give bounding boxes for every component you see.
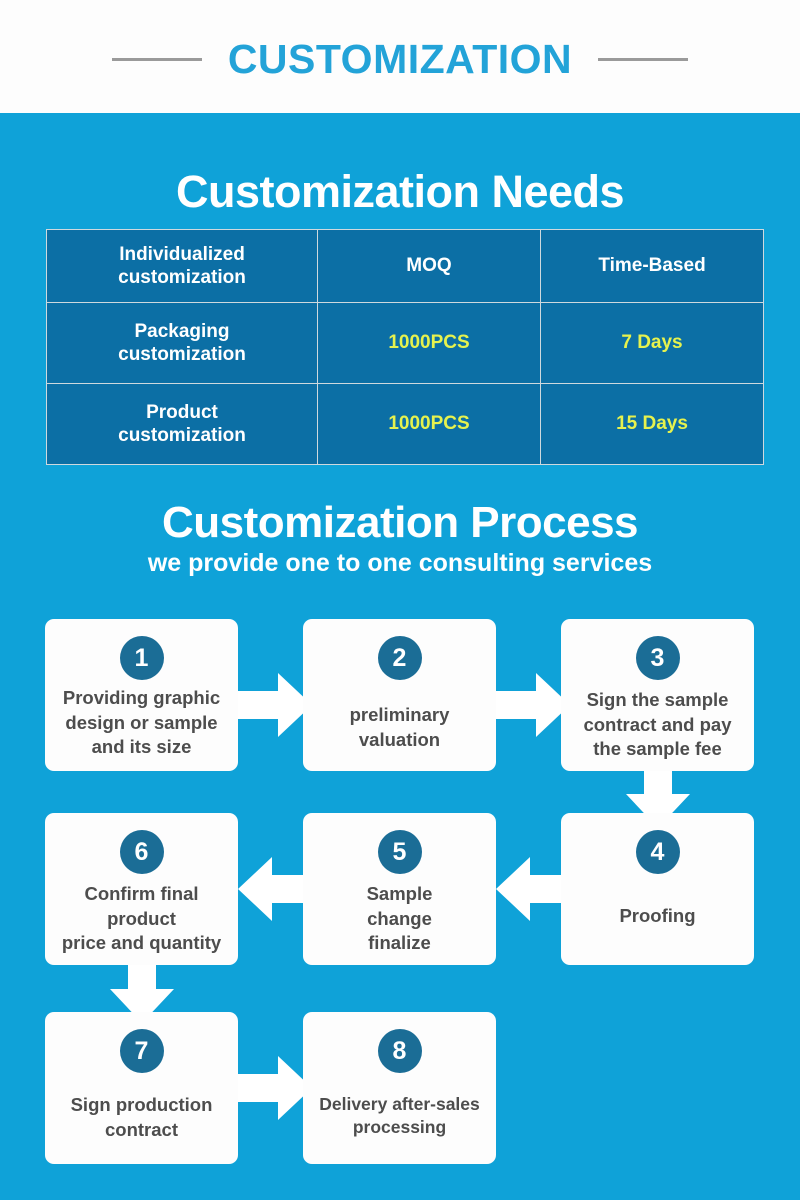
arrow-step4-to-step5 <box>496 855 570 923</box>
step-number-badge: 2 <box>378 636 422 680</box>
step-label: preliminary valuation <box>303 703 496 752</box>
step-label: Sample change finalize <box>303 882 496 956</box>
arrow-step2-to-step3 <box>496 671 570 739</box>
step-number-badge: 7 <box>120 1029 164 1073</box>
process-step-5[interactable]: 5 Sample change finalize <box>303 813 496 965</box>
process-step-1[interactable]: 1 Providing graphic design or sample and… <box>45 619 238 771</box>
process-step-7[interactable]: 7 Sign production contract <box>45 1012 238 1164</box>
step-number-badge: 8 <box>378 1029 422 1073</box>
row-moq-packaging: 1000PCS <box>318 303 541 384</box>
arrow-step1-to-step2 <box>238 671 312 739</box>
step-number-badge: 5 <box>378 830 422 874</box>
step-label: Sign production contract <box>45 1093 238 1142</box>
needs-section-title: Customization Needs <box>0 166 800 218</box>
table-header-individualized: Individualized customization <box>47 230 318 303</box>
step-number-badge: 1 <box>120 636 164 680</box>
process-step-8[interactable]: 8 Delivery after-sales processing <box>303 1012 496 1164</box>
step-label: Confirm final product price and quantity <box>45 882 238 956</box>
row-moq-product: 1000PCS <box>318 384 541 465</box>
process-step-6[interactable]: 6 Confirm final product price and quanti… <box>45 813 238 965</box>
step-label: Providing graphic design or sample and i… <box>45 686 238 760</box>
process-step-2[interactable]: 2 preliminary valuation <box>303 619 496 771</box>
page-title: CUSTOMIZATION <box>228 36 572 83</box>
step-label: Sign the sample contract and pay the sam… <box>561 688 754 762</box>
step-number-badge: 3 <box>636 636 680 680</box>
table-row: Product customization 1000PCS 15 Days <box>47 384 764 465</box>
process-step-4[interactable]: 4 Proofing <box>561 813 754 965</box>
arrow-step5-to-step6 <box>238 855 312 923</box>
table-row: Packaging customization 1000PCS 7 Days <box>47 303 764 384</box>
table-header-time-based: Time-Based <box>541 230 764 303</box>
step-number-badge: 6 <box>120 830 164 874</box>
customization-needs-table: Individualized customization MOQ Time-Ba… <box>46 229 764 465</box>
table-header-row: Individualized customization MOQ Time-Ba… <box>47 230 764 303</box>
process-section-title: Customization Process <box>0 498 800 548</box>
divider-line-left <box>112 58 202 61</box>
row-time-product: 15 Days <box>541 384 764 465</box>
step-number-badge: 4 <box>636 830 680 874</box>
banner-content: CUSTOMIZATION <box>112 36 688 83</box>
step-label: Proofing <box>561 904 754 929</box>
row-label-packaging: Packaging customization <box>47 303 318 384</box>
table-header-moq: MOQ <box>318 230 541 303</box>
arrow-step7-to-step8 <box>238 1054 312 1122</box>
row-time-packaging: 7 Days <box>541 303 764 384</box>
row-label-product: Product customization <box>47 384 318 465</box>
process-step-3[interactable]: 3 Sign the sample contract and pay the s… <box>561 619 754 771</box>
page-banner: CUSTOMIZATION <box>0 0 800 113</box>
step-label: Delivery after-sales processing <box>303 1093 496 1140</box>
process-section-subtitle: we provide one to one consulting service… <box>0 549 800 578</box>
divider-line-right <box>598 58 688 61</box>
